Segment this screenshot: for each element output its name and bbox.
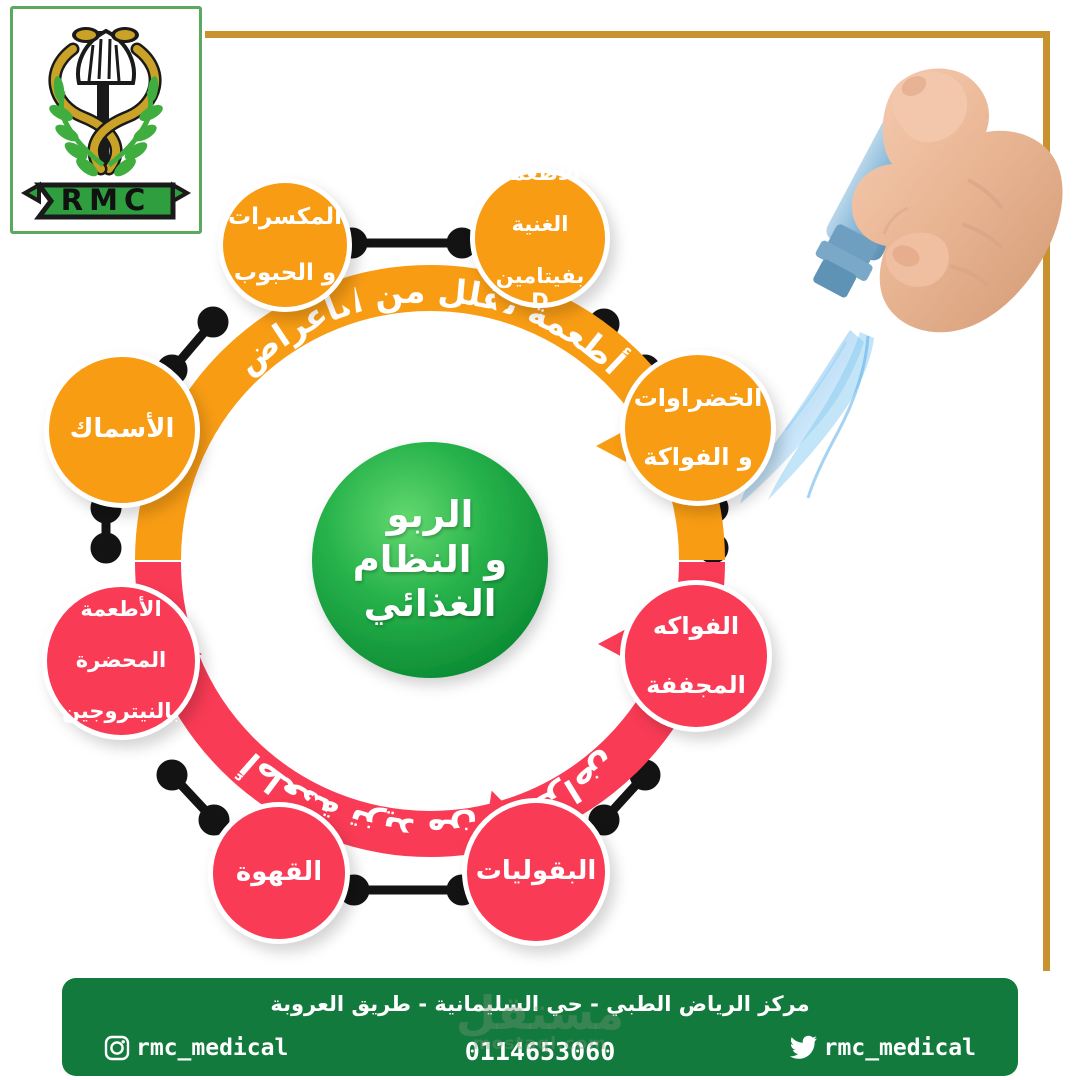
center-line-1: الربو [387, 493, 474, 537]
bubble-nuts-grains-line1: المكسرات [221, 203, 349, 231]
bubble-nitrogen-line1: الأطعمة [55, 597, 187, 623]
clinic-address: مركز الرياض الطبي - حي السليمانية - طريق… [62, 992, 1018, 1016]
bubble-fish-label: الأسماك [63, 414, 182, 446]
bubble-dried-fruits-line1: الفواكه [639, 612, 753, 641]
center-label: الربو و النظام الغذائي [312, 442, 548, 678]
infographic-canvas: RMC [0, 0, 1080, 1080]
bubble-nuts-grains-line2: و الحبوب [221, 259, 349, 287]
bubble-vitamin-d-line3: بفيتامين D [482, 264, 598, 315]
bubble-nuts-grains[interactable]: المكسرات و الحبوب [218, 178, 352, 312]
bubble-nitrogen-prepared-foods[interactable]: الأطعمة المحضرة بالنيتروجين [42, 582, 200, 740]
bubble-vegetables-fruits[interactable]: الخضراوات و الفواكة [620, 350, 776, 506]
footer-bar: مركز الرياض الطبي - حي السليمانية - طريق… [62, 978, 1018, 1076]
bubble-vitamin-d-line1: الأطعمة [482, 161, 598, 187]
bubble-coffee[interactable]: القهوة [208, 802, 350, 944]
bubble-vitamin-d-line2: الغنية [482, 212, 598, 238]
bubble-legumes-label: البقوليات [469, 856, 604, 888]
bubble-dried-fruits-line2: المجففة [639, 671, 753, 700]
bubble-nitrogen-line3: بالنيتروجين [55, 699, 187, 725]
bubble-fish[interactable]: الأسماك [44, 352, 200, 508]
center-line-2: و النظام [353, 538, 508, 582]
twitter-handle-text: rmc_medical [824, 1035, 976, 1061]
twitter-bird-icon [790, 1035, 818, 1061]
bubble-vitamin-d-foods[interactable]: الأطعمة الغنية بفيتامين D [470, 168, 610, 308]
center-line-3: الغذائي [364, 582, 497, 626]
bubble-nitrogen-line2: المحضرة [55, 648, 187, 674]
twitter-handle-group[interactable]: rmc_medical [790, 1035, 976, 1061]
bubble-vegetables-line1: الخضراوات [627, 384, 770, 413]
bubble-coffee-label: القهوة [229, 857, 329, 889]
footer-contact-row: rmc_medical 0114653060 rmc_medical [62, 1033, 1018, 1073]
bubble-legumes[interactable]: البقوليات [462, 798, 610, 946]
bubble-dried-fruits[interactable]: الفواكه المجففة [620, 580, 772, 732]
bubble-vegetables-line2: و الفواكة [627, 443, 770, 472]
